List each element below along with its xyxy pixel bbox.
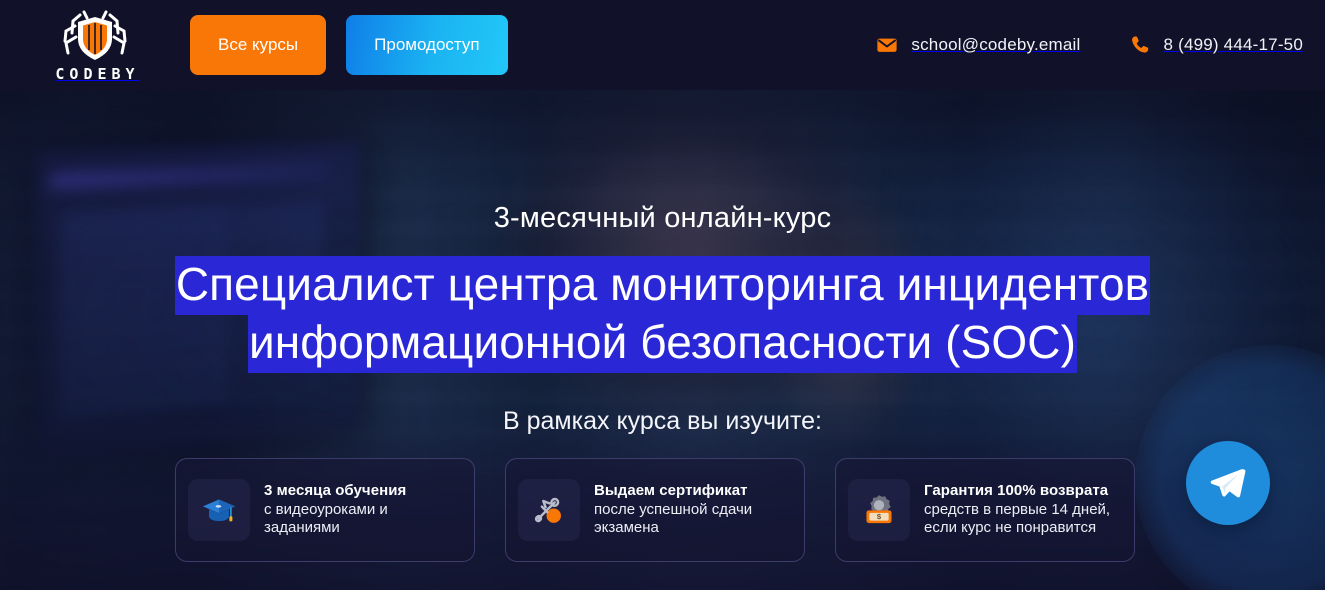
- header-contacts: school@codeby.email 8 (499) 444-17-50: [876, 34, 1303, 56]
- hero-subhead: В рамках курса вы изучите:: [0, 407, 1325, 436]
- phone-text: 8 (499) 444-17-50: [1164, 35, 1304, 55]
- graduation-cap-icon: [200, 491, 238, 529]
- feature-desc: после успешной сдачи экзамена: [594, 501, 790, 539]
- page-title-line-2: информационной безопасности (SOC): [248, 314, 1077, 373]
- hero-content: 3-месячный онлайн-курс Специалист центра…: [0, 90, 1325, 590]
- feature-desc: с видеоуроками и заданиями: [264, 501, 460, 539]
- page-root: CODEBY Все курсы Промодоступ school@code…: [0, 0, 1325, 590]
- telegram-float-widget: [1135, 345, 1325, 590]
- feature-text: Гарантия 100% возврата средств в первые …: [924, 482, 1120, 539]
- feature-title: Выдаем сертификат: [594, 482, 790, 501]
- feature-desc: средств в первые 14 дней, если курс не п…: [924, 501, 1120, 539]
- feature-title: 3 месяца обучения: [264, 482, 460, 501]
- feature-icon-tile: [518, 479, 580, 541]
- header-nav: Все курсы Промодоступ: [190, 15, 508, 75]
- logo-wordmark: CODEBY: [50, 67, 139, 82]
- feature-card-certificate: Выдаем сертификат после успешной сдачи э…: [505, 458, 805, 562]
- phone-icon: [1129, 34, 1151, 56]
- all-courses-button[interactable]: Все курсы: [190, 15, 326, 75]
- envelope-icon: [876, 34, 898, 56]
- phone-contact[interactable]: 8 (499) 444-17-50: [1129, 34, 1304, 56]
- hero-eyebrow: 3-месячный онлайн-курс: [0, 202, 1325, 235]
- page-title-line-1: Специалист центра мониторинга инцидентов: [175, 256, 1150, 315]
- money-back-icon: $: [860, 491, 898, 529]
- certificate-medal-icon: [530, 491, 568, 529]
- feature-text: 3 месяца обучения с видеоуроками и задан…: [264, 482, 460, 539]
- promo-access-button[interactable]: Промодоступ: [346, 15, 507, 75]
- feature-title: Гарантия 100% возврата: [924, 482, 1120, 501]
- page-title: Специалист центра мониторинга инцидентов…: [0, 255, 1325, 372]
- feature-card-duration: 3 месяца обучения с видеоуроками и задан…: [175, 458, 475, 562]
- site-logo[interactable]: CODEBY: [0, 0, 190, 90]
- hero-section: 3-месячный онлайн-курс Специалист центра…: [0, 90, 1325, 590]
- spider-shield-logo-icon: [60, 9, 130, 65]
- feature-card-guarantee: $ Гарантия 100% возврата средств в первы…: [835, 458, 1135, 562]
- feature-icon-tile: $: [848, 479, 910, 541]
- telegram-button[interactable]: [1186, 441, 1270, 525]
- site-header: CODEBY Все курсы Промодоступ school@code…: [0, 0, 1325, 90]
- feature-icon-tile: [188, 479, 250, 541]
- email-contact[interactable]: school@codeby.email: [876, 34, 1080, 56]
- feature-card-list: 3 месяца обучения с видеоуроками и задан…: [175, 458, 1150, 562]
- telegram-paper-plane-icon: [1207, 463, 1247, 503]
- feature-text: Выдаем сертификат после успешной сдачи э…: [594, 482, 790, 539]
- email-text: school@codeby.email: [911, 35, 1080, 55]
